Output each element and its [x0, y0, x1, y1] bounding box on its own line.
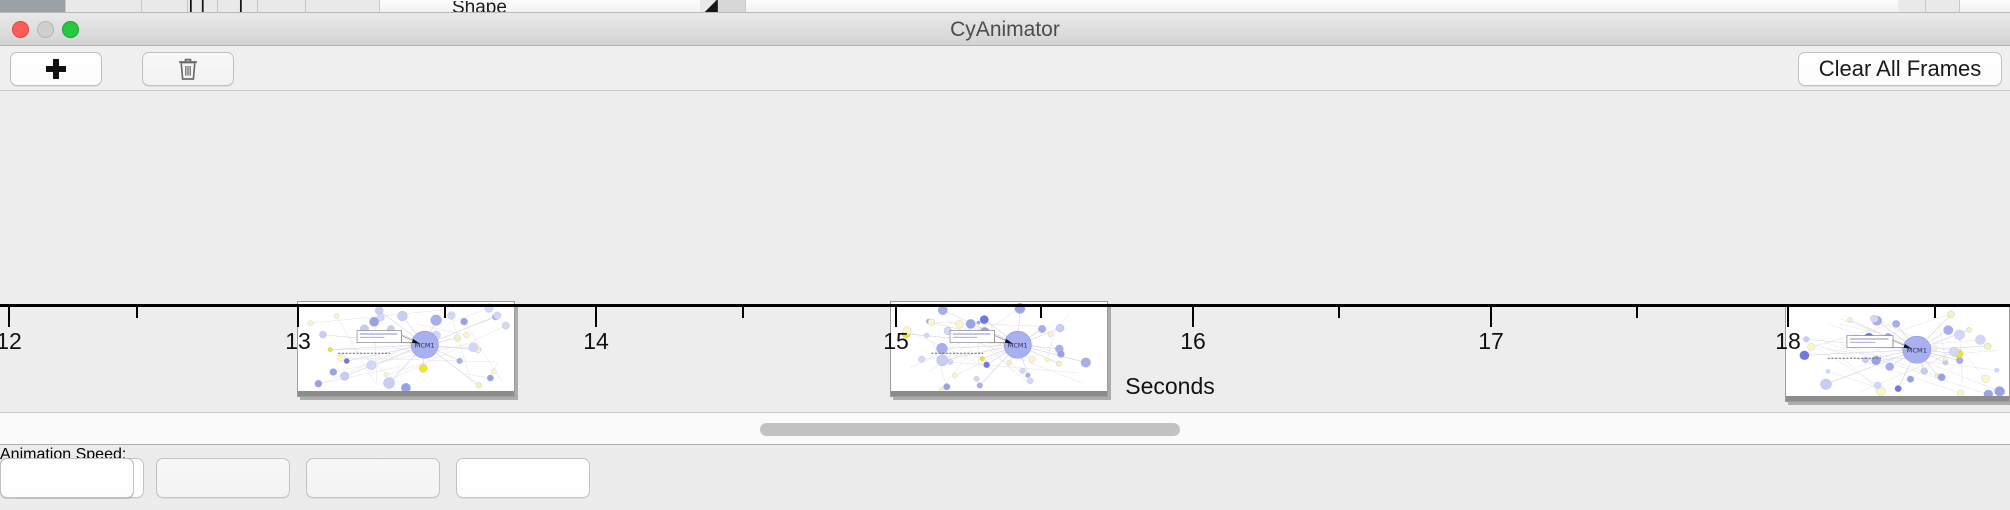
pause-button[interactable] [156, 458, 290, 498]
thumbnail-baseplate [891, 391, 1107, 396]
axis-tick-major [895, 307, 897, 327]
skip-to-start-button[interactable] [456, 458, 590, 498]
background-window-strip: | | | ◢ Shape [0, 0, 2010, 13]
bg-seg [0, 0, 66, 13]
timeline-panel[interactable]: MCM1 MCM1 MCM1 12131415161718 Seconds [0, 91, 2010, 413]
axis-tick-major [1787, 307, 1789, 327]
axis-tick-major [8, 307, 10, 327]
plus-icon [45, 58, 67, 80]
axis-tick-major [595, 307, 597, 327]
keyframe-thumbnail-3[interactable]: MCM1 [1785, 306, 2010, 402]
keyframe-thumbnail-1[interactable]: MCM1 [297, 301, 515, 397]
axis-tick-minor [742, 307, 744, 318]
axis-tick-label: 12 [0, 328, 22, 355]
axis-tick-minor [1338, 307, 1340, 318]
axis-tick-minor [1636, 307, 1638, 318]
record-button[interactable] [0, 458, 134, 498]
bg-seg [1926, 0, 1960, 13]
bg-seg [1898, 0, 1926, 13]
bg-seg [142, 0, 188, 13]
axis-tick-minor [1934, 307, 1936, 318]
axis-tick-label: 14 [583, 328, 609, 355]
playback-control-bar: Animation Speed: [0, 446, 2010, 510]
keyframe-thumbnail-2[interactable]: MCM1 [890, 301, 1108, 397]
axis-tick-minor [136, 307, 138, 318]
clear-all-frames-label: Clear All Frames [1819, 56, 1982, 82]
thumbnail-baseplate [1786, 396, 2009, 401]
svg-text:MCM1: MCM1 [1008, 342, 1028, 350]
axis-tick-major [1192, 307, 1194, 327]
trash-icon [176, 56, 200, 82]
axis-title-seconds: Seconds [1125, 373, 1215, 400]
axis-tick-major [1490, 307, 1492, 327]
thumbnail-baseplate [298, 391, 514, 396]
bg-seg [258, 0, 306, 13]
timeline-scrollbar-thumb[interactable] [760, 423, 1180, 436]
animation-speed-label: Animation Speed: [0, 446, 2010, 464]
axis-tick-minor [1040, 307, 1042, 318]
delete-frame-button[interactable] [142, 52, 234, 86]
bg-seg [716, 0, 746, 13]
axis-tick-label: 16 [1180, 328, 1206, 355]
axis-tick-label: 15 [883, 328, 909, 355]
svg-text:MCM1: MCM1 [1907, 347, 1927, 355]
window-titlebar: CyAnimator [0, 13, 2010, 46]
window-title: CyAnimator [0, 13, 2010, 46]
background-window-label: Shape [452, 1, 507, 13]
axis-tick-label: 17 [1478, 328, 1504, 355]
axis-tick-major [297, 307, 299, 327]
timeline-axis [0, 304, 2010, 307]
add-frame-button[interactable] [10, 52, 102, 86]
bg-seg [306, 0, 380, 13]
bg-seg [66, 0, 142, 13]
axis-tick-label: 13 [285, 328, 311, 355]
axis-tick-minor [444, 307, 446, 318]
stop-button[interactable] [306, 458, 440, 498]
timeline-scrollbar-track[interactable] [0, 413, 2010, 445]
svg-text:MCM1: MCM1 [415, 342, 435, 350]
frame-toolbar: Clear All Frames [0, 46, 2010, 91]
axis-tick-label: 18 [1775, 328, 1801, 355]
clear-all-frames-button[interactable]: Clear All Frames [1798, 52, 2002, 86]
